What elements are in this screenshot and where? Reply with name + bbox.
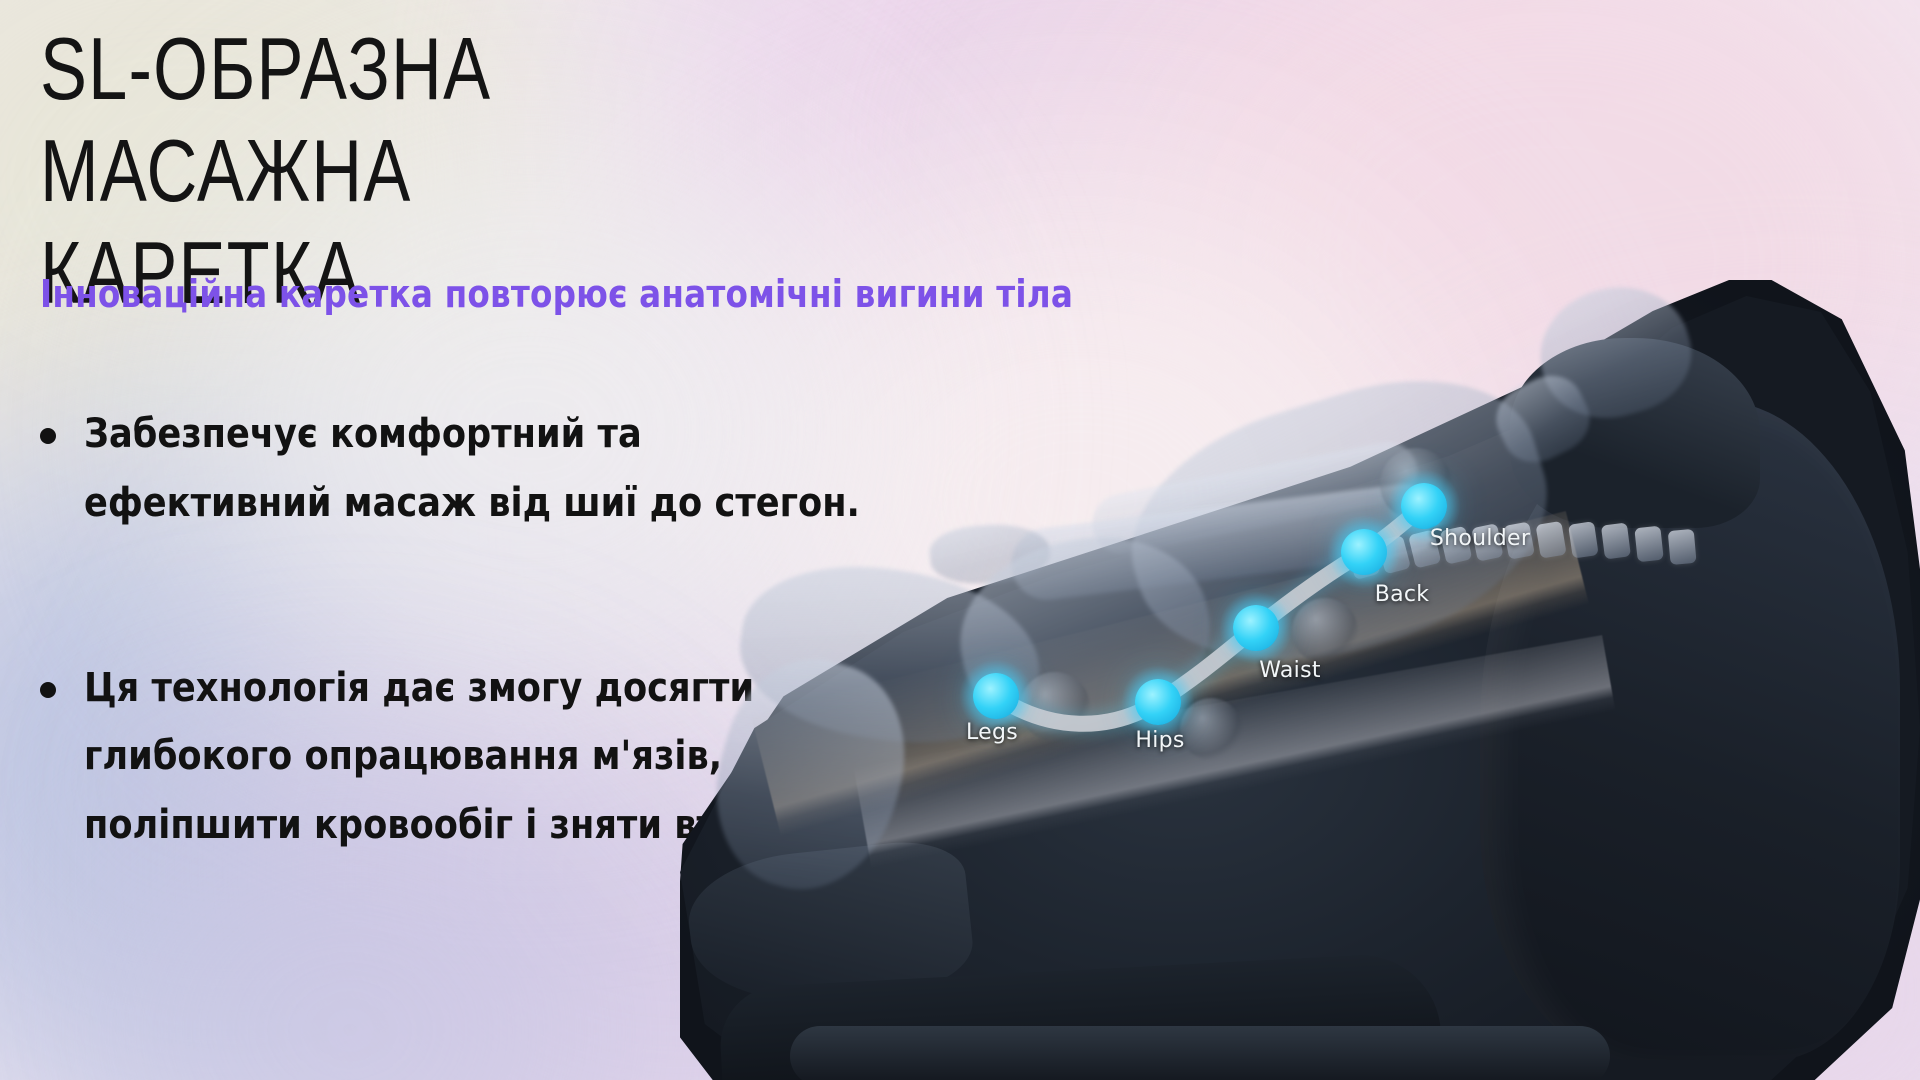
bullet-dot-icon <box>40 682 56 698</box>
track-node-hips[interactable] <box>1135 679 1181 725</box>
track-node-back[interactable] <box>1341 529 1387 575</box>
node-glow-icon <box>1401 483 1447 529</box>
track-label-hips: Hips <box>1135 728 1184 753</box>
node-glow-icon <box>1135 679 1181 725</box>
track-label-back: Back <box>1375 582 1430 607</box>
node-glow-icon <box>973 673 1019 719</box>
track-node-shoulder[interactable] <box>1401 483 1447 529</box>
track-node-waist[interactable] <box>1233 605 1279 651</box>
node-glow-icon <box>1341 529 1387 575</box>
track-label-shoulder: Shoulder <box>1430 526 1530 551</box>
track-label-waist: Waist <box>1259 658 1321 683</box>
track-node-legs[interactable] <box>973 673 1019 719</box>
massage-chair-illustration: Shoulder Back Waist Hips Legs <box>680 280 1920 1080</box>
node-glow-icon <box>1233 605 1279 651</box>
product-image: Shoulder Back Waist Hips Legs <box>680 280 1920 1080</box>
track-label-legs: Legs <box>966 720 1018 745</box>
bullet-dot-icon <box>40 428 56 444</box>
